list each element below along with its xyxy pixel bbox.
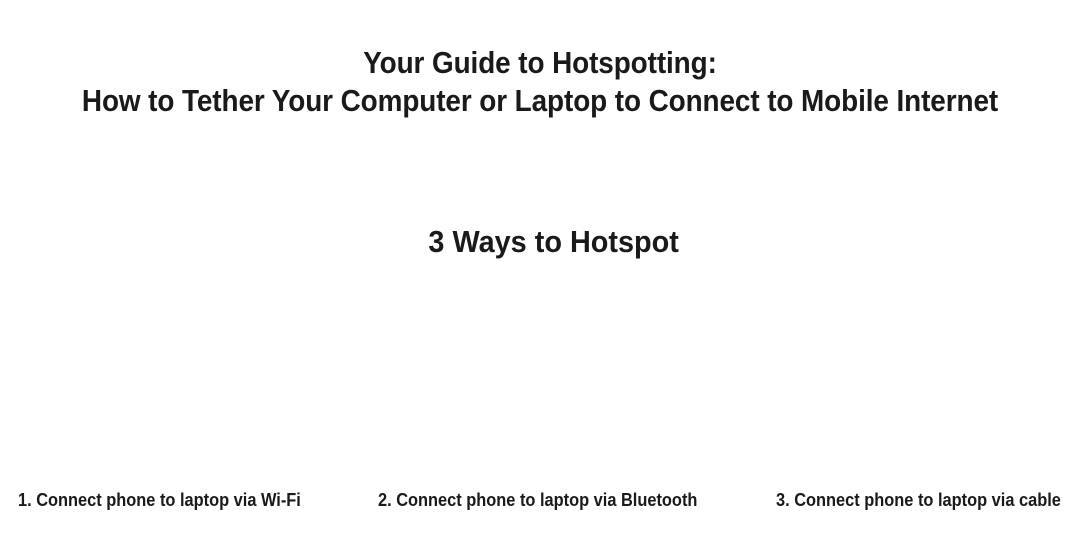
method-illustration-1 — [0, 276, 340, 478]
method-illustration-2 — [370, 276, 710, 478]
page-title-line-2: How to Tether Your Computer or Laptop to… — [54, 82, 1026, 120]
method-illustration-3 — [740, 276, 1080, 478]
method-illustrations — [0, 276, 1080, 478]
page-title: Your Guide to Hotspotting: How to Tether… — [0, 44, 1080, 120]
section-heading-label: 3 Ways to Hotspot — [429, 222, 679, 262]
method-caption-1: 1. Connect phone to laptop via Wi-Fi — [18, 488, 301, 512]
page-title-line-1: Your Guide to Hotspotting: — [54, 44, 1026, 82]
section-heading: 3 Ways to Hotspot — [0, 222, 1080, 262]
article-page: Your Guide to Hotspotting: How to Tether… — [0, 0, 1080, 552]
method-captions: 1. Connect phone to laptop via Wi-Fi 2. … — [0, 488, 1080, 518]
method-caption-2: 2. Connect phone to laptop via Bluetooth — [378, 488, 697, 512]
method-caption-3: 3. Connect phone to laptop via cable — [776, 488, 1061, 512]
